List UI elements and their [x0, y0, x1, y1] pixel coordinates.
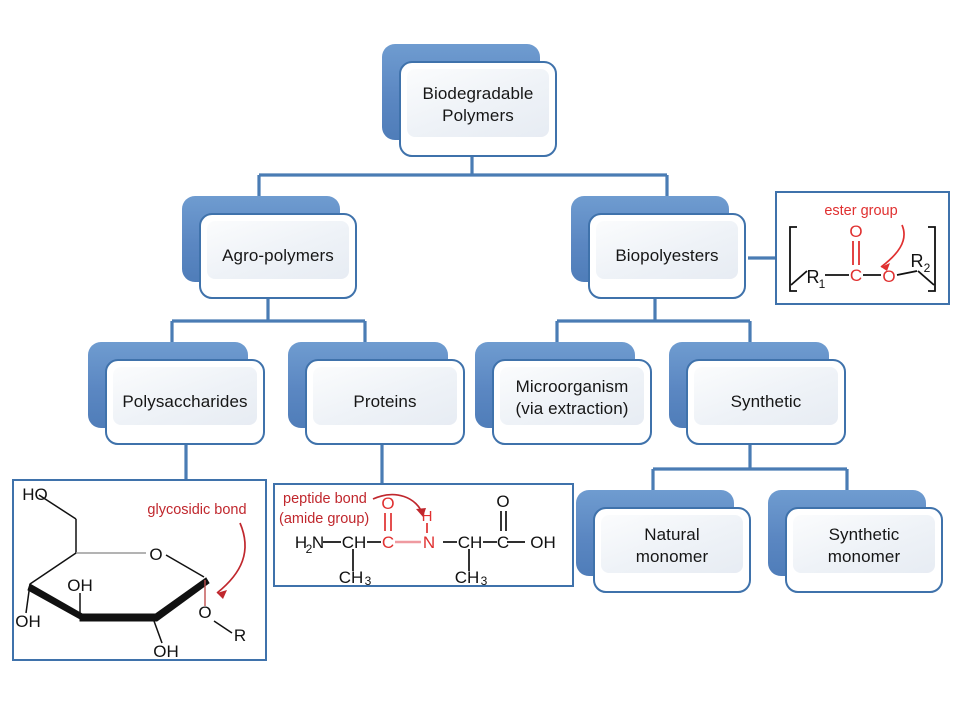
bond-left-continuation — [791, 271, 807, 285]
node-synthetic[interactable]: Synthetic — [669, 342, 829, 428]
atom-label-ring-oxygen: O — [149, 545, 162, 564]
atom-label-carbonyl-oxygen: O — [849, 222, 862, 241]
ester-structure: O C O R 1 R 2 ester group — [777, 193, 948, 303]
atom-label-r2-subscript: 2 — [924, 261, 931, 275]
bond-c2-to-oh — [154, 621, 162, 643]
atom-label-r1-subscript: 1 — [819, 277, 826, 291]
node-natural-monomer[interactable]: Natural monomer — [576, 490, 734, 576]
atom-label-r1: R — [807, 267, 820, 287]
node-label-line2: monomer — [828, 547, 901, 566]
atom-label-r: R — [234, 626, 246, 645]
annotation-label-glycosidic-bond: glycosidic bond — [147, 502, 246, 518]
node-label-line1: Natural — [644, 525, 700, 544]
node-label: Biodegradable Polymers — [399, 61, 557, 157]
node-microorganism[interactable]: Microorganism (via extraction) — [475, 342, 635, 428]
peptide-structure: H 2 N CH C O H N CH C O OH CH 3 CH 3 pep… — [275, 485, 572, 585]
atom-label-oh-left: OH — [15, 612, 41, 631]
atom-label-ch3-right-subscript: 3 — [481, 574, 488, 585]
node-label-line1: Microorganism — [516, 377, 629, 396]
atom-label-carboxyl-carbon: C — [497, 533, 509, 552]
node-label-line2: monomer — [636, 547, 709, 566]
node-proteins[interactable]: Proteins — [288, 342, 448, 428]
chem-panel-ester-group: O C O R 1 R 2 ester group — [775, 191, 950, 305]
atom-label-h2n-nitrogen: N — [312, 533, 324, 552]
atom-label-ho: HO — [22, 485, 48, 504]
atom-label-ch3-right: CH — [455, 568, 480, 585]
node-agro-polymers[interactable]: Agro-polymers — [182, 196, 340, 282]
atom-label-carbonyl-carbon: C — [850, 266, 862, 285]
node-label: Natural monomer — [593, 507, 751, 593]
node-label-line2: (via extraction) — [515, 399, 628, 418]
atom-label-ch3-left-subscript: 3 — [365, 574, 372, 585]
atom-label-glycosidic-oxygen: O — [198, 603, 211, 622]
chem-panel-glycosidic-bond: HO O OH OH OH O R glycosidic bond — [12, 479, 267, 661]
bond-o-to-r2 — [897, 271, 917, 275]
annotation-arrow-curve — [881, 225, 904, 267]
node-biopolyesters[interactable]: Biopolyesters — [571, 196, 729, 282]
node-label: Agro-polymers — [199, 213, 357, 299]
node-label: Synthetic monomer — [785, 507, 943, 593]
node-synthetic-monomer[interactable]: Synthetic monomer — [768, 490, 926, 576]
annotation-arrow-curve — [217, 523, 245, 593]
bond-bold-c3-c2 — [80, 614, 156, 621]
atom-label-oh-mid: OH — [67, 576, 93, 595]
atom-label-ch3-left: CH — [339, 568, 364, 585]
annotation-label-peptide-bond-line2: (amide group) — [279, 511, 369, 527]
node-biodegradable-polymers[interactable]: Biodegradable Polymers — [382, 44, 540, 140]
atom-label-r2: R — [911, 251, 924, 271]
atom-label-carbonyl-carbon-left: C — [382, 533, 394, 552]
node-label: Proteins — [305, 359, 465, 445]
node-label-line1: Synthetic — [829, 525, 900, 544]
node-label: Synthetic — [686, 359, 846, 445]
node-label: Microorganism (via extraction) — [492, 359, 652, 445]
annotation-label-peptide-bond-line1: peptide bond — [283, 491, 367, 507]
chem-panel-peptide-bond: H 2 N CH C O H N CH C O OH CH 3 CH 3 pep… — [273, 483, 574, 587]
node-label: Biopolyesters — [588, 213, 746, 299]
diagram-canvas: Biodegradable Polymers Agro-polymers Bio… — [0, 0, 960, 720]
node-label: Polysaccharides — [105, 359, 265, 445]
annotation-label-ester-group: ester group — [824, 203, 897, 219]
atom-label-ch-left: CH — [342, 533, 367, 552]
bond-glycosidic-o-to-r — [214, 621, 232, 633]
atom-label-ester-oxygen: O — [882, 267, 895, 286]
bond-ringo-to-c1 — [166, 555, 204, 577]
atom-label-ch-right: CH — [458, 533, 483, 552]
atom-label-oh-bottom: OH — [153, 642, 179, 659]
node-polysaccharides[interactable]: Polysaccharides — [88, 342, 248, 428]
atom-label-amide-nitrogen: N — [423, 533, 435, 552]
node-label-line2: Polymers — [442, 106, 514, 125]
node-label-line1: Biodegradable — [423, 84, 534, 103]
glycosidic-structure: HO O OH OH OH O R glycosidic bond — [14, 481, 265, 659]
atom-label-carbonyl-oxygen-left: O — [381, 494, 394, 513]
atom-label-carboxyl-oxygen: O — [496, 492, 509, 511]
atom-label-hydroxyl: OH — [530, 533, 556, 552]
